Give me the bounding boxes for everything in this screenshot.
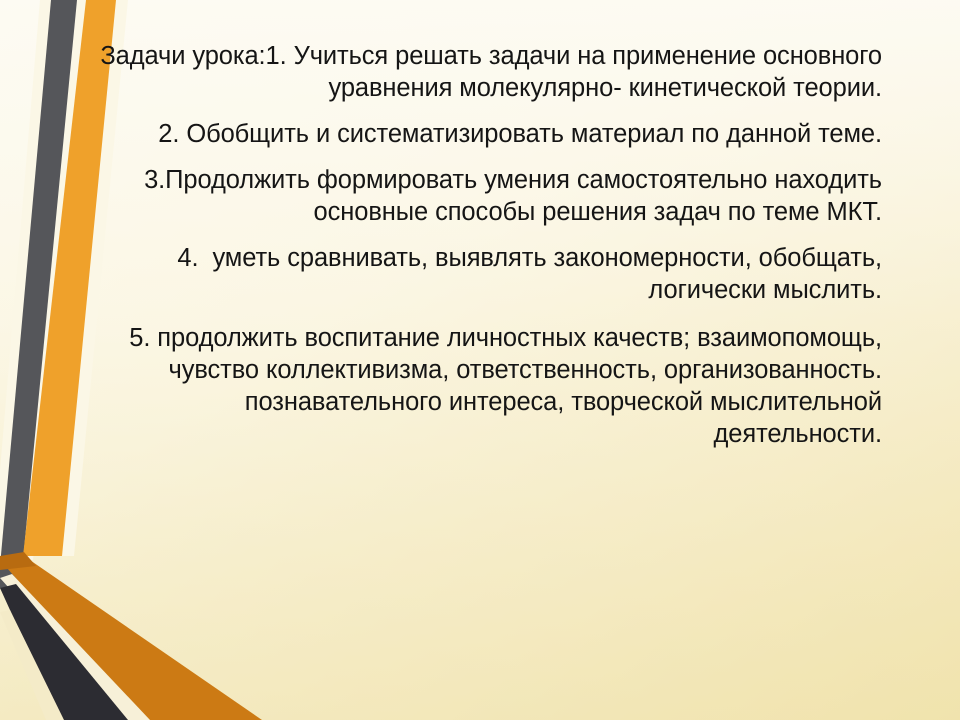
lesson-objectives-intro: Задачи урока:1. Учиться решать задачи на… bbox=[78, 40, 882, 104]
lesson-objective-2: 2. Обобщить и систематизировать материал… bbox=[78, 118, 882, 150]
slide-body-text: Задачи урока:1. Учиться решать задачи на… bbox=[78, 40, 882, 450]
stripe-group-lower bbox=[0, 552, 262, 720]
lesson-objective-4: 4. уметь сравнивать, выявлять закономерн… bbox=[78, 242, 882, 306]
slide-canvas: Задачи урока:1. Учиться решать задачи на… bbox=[0, 0, 960, 720]
lesson-objective-5: 5. продолжить воспитание личностных каче… bbox=[78, 322, 882, 450]
lesson-objective-3: 3.Продолжить формировать умения самостоя… bbox=[78, 164, 882, 228]
